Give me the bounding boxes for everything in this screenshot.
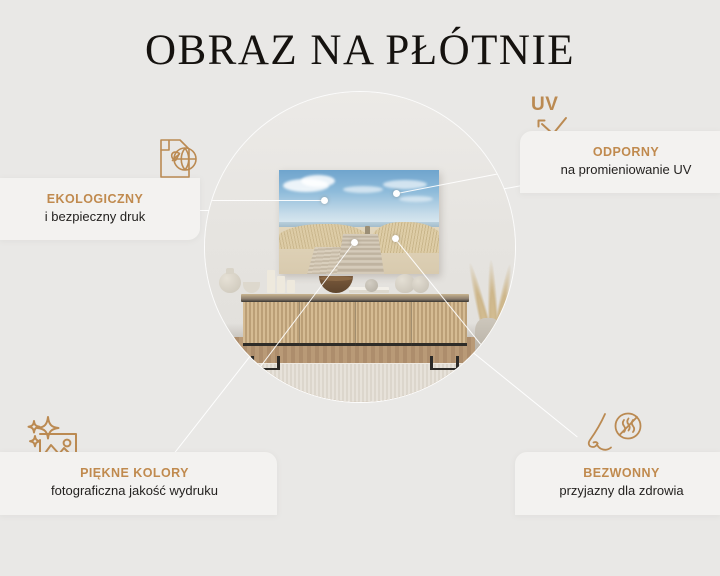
pampas-grass [205, 92, 515, 402]
hotspot-dot-colors [351, 239, 358, 246]
page-title: OBRAZ NA PŁÓTNIE [0, 26, 720, 75]
feature-sub-colors: fotograficzna jakość wydruku [0, 482, 269, 501]
room-scene [205, 92, 515, 402]
feature-box-eco: EKOLOGICZNY i bezpieczny druk [0, 178, 200, 240]
feature-kicker-uv: ODPORNY [532, 143, 720, 161]
feature-box-smell: BEZWONNY przyjazny dla zdrowia [515, 452, 720, 515]
poster-stage: OBRAZ NA PŁÓTNIE [0, 0, 720, 576]
feature-box-colors: PIĘKNE KOLORY fotograficzna jakość wydru… [0, 452, 277, 515]
scene-line-eco [205, 200, 324, 201]
feature-sub-smell: przyjazny dla zdrowia [523, 482, 720, 501]
feature-sub-uv: na promieniowanie UV [532, 161, 720, 180]
hotspot-dot-smell [392, 235, 399, 242]
uv-label: UV [531, 94, 558, 116]
feature-kicker-colors: PIĘKNE KOLORY [0, 464, 269, 482]
hotspot-dot-uv [393, 190, 400, 197]
feature-kicker-eco: EKOLOGICZNY [0, 190, 190, 208]
product-scene-circle [205, 92, 515, 402]
hotspot-dot-eco [321, 197, 328, 204]
feature-sub-eco: i bezpieczny druk [0, 208, 190, 227]
feature-kicker-smell: BEZWONNY [523, 464, 720, 482]
feature-box-uv: ODPORNY na promieniowanie UV [520, 131, 720, 193]
